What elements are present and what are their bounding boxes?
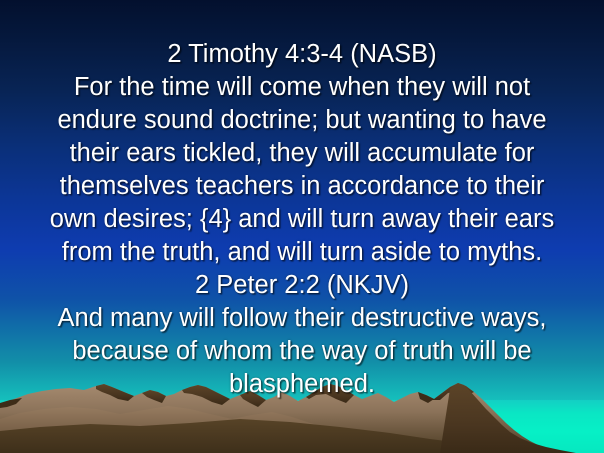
- verse-line-5: themselves teachers in accordance to the…: [0, 170, 604, 203]
- verse-line-3: endure sound doctrine; but wanting to ha…: [0, 104, 604, 137]
- verse-line-10: because of whom the way of truth will be: [0, 335, 604, 368]
- verse-line-2: For the time will come when they will no…: [0, 71, 604, 104]
- verse-line-7: from the truth, and will turn aside to m…: [0, 236, 604, 269]
- verse-line-6: own desires; {4} and will turn away thei…: [0, 203, 604, 236]
- verse-line-8: 2 Peter 2:2 (NKJV): [0, 269, 604, 302]
- verse-line-11: blasphemed.: [0, 368, 604, 401]
- scripture-text-block: 2 Timothy 4:3-4 (NASB) For the time will…: [0, 0, 604, 401]
- verse-line-4: their ears tickled, they will accumulate…: [0, 137, 604, 170]
- verse-line-1: 2 Timothy 4:3-4 (NASB): [0, 38, 604, 71]
- verse-line-9: And many will follow their destructive w…: [0, 302, 604, 335]
- presentation-slide: 2 Timothy 4:3-4 (NASB) For the time will…: [0, 0, 604, 453]
